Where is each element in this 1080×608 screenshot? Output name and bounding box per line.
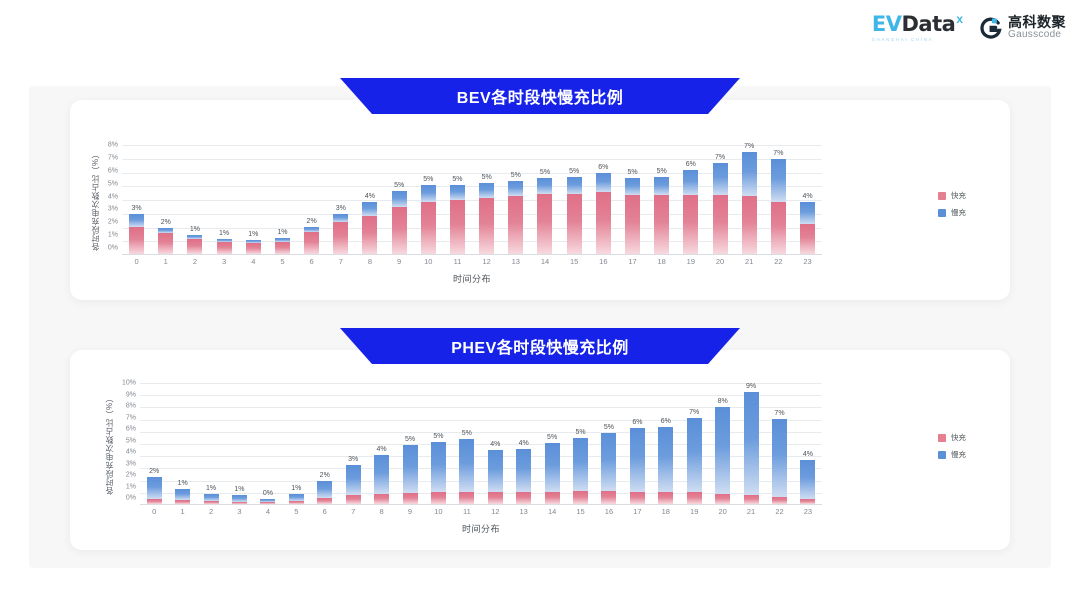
bev-bar-segment-fast	[187, 239, 202, 254]
bev-bar-segment-fast	[246, 243, 261, 254]
phev-stacked-bar[interactable]	[687, 418, 702, 504]
bev-bar-group[interactable]: 5%	[385, 145, 414, 254]
phev-bar-group[interactable]: 4%	[509, 383, 537, 504]
phev-bar-segment-fast	[630, 492, 645, 504]
bev-stacked-bar[interactable]	[392, 191, 407, 254]
bev-bar-segment-fast	[129, 227, 144, 255]
bev-stacked-bar[interactable]	[713, 163, 728, 254]
bev-bar-group[interactable]: 1%	[180, 145, 209, 254]
bev-bars: 3%2%1%1%1%1%2%3%4%5%5%5%5%5%5%5%6%5%5%6%…	[122, 145, 822, 254]
phev-x-tick: 17	[623, 507, 651, 516]
bev-stacked-bar[interactable]	[742, 152, 757, 254]
phev-bar-segment-fast	[516, 492, 531, 504]
bev-bar-group[interactable]: 3%	[122, 145, 151, 254]
phev-bar-value-label: 1%	[291, 485, 301, 492]
phev-stacked-bar[interactable]	[545, 443, 560, 504]
bev-bar-segment-fast	[362, 216, 377, 255]
phev-x-tick: 15	[566, 507, 594, 516]
phev-x-tick: 5	[282, 507, 310, 516]
phev-bar-value-label: 1%	[206, 485, 216, 492]
phev-bar-value-label: 5%	[575, 429, 585, 436]
bev-bar-segment-fast	[596, 192, 611, 254]
phev-stacked-bar[interactable]	[744, 392, 759, 504]
bev-stacked-bar[interactable]	[596, 173, 611, 254]
phev-x-tick: 7	[339, 507, 367, 516]
phev-y-tick: 4%	[126, 449, 136, 456]
bev-stacked-bar[interactable]	[421, 185, 436, 254]
phev-bar-value-label: 6%	[661, 418, 671, 425]
phev-bar-segment-slow	[147, 477, 162, 498]
phev-bar-group[interactable]: 6%	[652, 383, 680, 504]
phev-bar-segment-fast	[204, 501, 219, 504]
bev-stacked-bar[interactable]	[479, 183, 494, 255]
phev-bar-value-label: 5%	[604, 424, 614, 431]
bev-stacked-bar[interactable]	[362, 202, 377, 254]
bev-bar-group[interactable]: 7%	[764, 145, 793, 254]
bev-bar-group[interactable]: 1%	[268, 145, 297, 254]
phev-stacked-bar[interactable]	[601, 433, 616, 504]
phev-x-tick: 1	[168, 507, 196, 516]
bev-bar-group[interactable]: 1%	[210, 145, 239, 254]
bev-bar-value-label: 3%	[132, 205, 142, 212]
bev-stacked-bar[interactable]	[625, 178, 640, 254]
phev-bar-group[interactable]: 2%	[311, 383, 339, 504]
phev-bar-value-label: 5%	[547, 434, 557, 441]
phev-bar-segment-fast	[346, 495, 361, 504]
bev-bar-segment-fast	[158, 233, 173, 254]
gausscode-cn-text: 高科数聚	[1008, 15, 1066, 30]
bev-bar-group[interactable]: 7%	[705, 145, 734, 254]
phev-title-text: PHEV各时段快慢充比例	[451, 334, 629, 358]
phev-bar-value-label: 6%	[632, 419, 642, 426]
phev-bar-segment-slow	[715, 407, 730, 494]
bev-x-tick: 15	[560, 257, 589, 266]
bev-bar-segment-fast	[537, 194, 552, 255]
bev-bar-segment-slow	[392, 191, 407, 208]
bev-stacked-bar[interactable]	[654, 177, 669, 254]
phev-bar-value-label: 5%	[433, 433, 443, 440]
bev-stacked-bar[interactable]	[333, 214, 348, 254]
phev-title-banner: PHEV各时段快慢充比例	[340, 328, 740, 364]
bev-stacked-bar[interactable]	[246, 240, 261, 254]
phev-bar-group[interactable]: 1%	[168, 383, 196, 504]
phev-bar-segment-slow	[374, 455, 389, 494]
phev-bar-group[interactable]: 5%	[566, 383, 594, 504]
phev-x-tick: 20	[708, 507, 736, 516]
phev-bar-segment-fast	[459, 492, 474, 504]
phev-x-tick: 18	[652, 507, 680, 516]
bev-bar-group[interactable]: 1%	[239, 145, 268, 254]
bev-bar-value-label: 6%	[598, 164, 608, 171]
gausscode-logo: 高科数聚 Gausscode	[979, 15, 1066, 40]
bev-bar-group[interactable]: 3%	[326, 145, 355, 254]
bev-stacked-bar[interactable]	[800, 202, 815, 254]
phev-bar-segment-fast	[403, 493, 418, 504]
bev-bar-segment-fast	[625, 195, 640, 254]
phev-stacked-bar[interactable]	[204, 494, 219, 504]
bev-stacked-bar[interactable]	[217, 239, 232, 254]
phev-x-tick: 12	[481, 507, 509, 516]
bev-y-tick: 8%	[108, 142, 118, 149]
bev-stacked-bar[interactable]	[771, 159, 786, 254]
bev-bar-segment-slow	[537, 178, 552, 193]
phev-x-tick: 16	[595, 507, 623, 516]
bev-bar-group[interactable]: 5%	[530, 145, 559, 254]
phev-bar-segment-fast	[601, 491, 616, 504]
bev-x-tick: 3	[210, 257, 239, 266]
bev-bar-group[interactable]: 5%	[472, 145, 501, 254]
phev-legend-swatch-icon	[938, 434, 946, 442]
phev-bar-segment-slow	[431, 442, 446, 492]
phev-stacked-bar[interactable]	[403, 445, 418, 504]
bev-stacked-bar[interactable]	[158, 228, 173, 254]
bev-x-tick: 0	[122, 257, 151, 266]
bev-bar-value-label: 5%	[540, 169, 550, 176]
bev-x-tick: 16	[589, 257, 618, 266]
phev-bar-group[interactable]: 8%	[708, 383, 736, 504]
bev-bar-segment-slow	[479, 183, 494, 198]
bev-x-tick: 22	[764, 257, 793, 266]
phev-x-tick: 21	[737, 507, 765, 516]
phev-bar-segment-slow	[601, 433, 616, 492]
phev-x-tick: 13	[509, 507, 537, 516]
bev-bar-value-label: 5%	[482, 174, 492, 181]
bev-bar-group[interactable]: 5%	[443, 145, 472, 254]
bev-title-banner: BEV各时段快慢充比例	[340, 78, 740, 114]
phev-stacked-bar[interactable]	[317, 481, 332, 504]
bev-stacked-bar[interactable]	[275, 238, 290, 255]
phev-stacked-bar[interactable]	[800, 460, 815, 504]
phev-stacked-bar[interactable]	[260, 499, 275, 504]
phev-stacked-bar[interactable]	[459, 439, 474, 504]
phev-stacked-bar[interactable]	[573, 438, 588, 504]
bev-stacked-bar[interactable]	[537, 178, 552, 254]
phev-bar-segment-slow	[744, 392, 759, 496]
bev-bar-value-label: 1%	[277, 229, 287, 236]
phev-bar-value-label: 4%	[490, 441, 500, 448]
phev-y-tick: 5%	[126, 437, 136, 444]
bev-bar-value-label: 1%	[248, 231, 258, 238]
bev-bar-group[interactable]: 6%	[589, 145, 618, 254]
phev-bar-group[interactable]: 1%	[225, 383, 253, 504]
bev-x-tick: 11	[443, 257, 472, 266]
phev-stacked-bar[interactable]	[516, 449, 531, 504]
phev-x-axis-label: 时间分布	[140, 522, 822, 535]
bev-bar-segment-slow	[713, 163, 728, 195]
bev-stacked-bar[interactable]	[683, 170, 698, 254]
phev-bar-segment-fast	[260, 502, 275, 504]
bev-legend-label: 慢充	[951, 207, 966, 218]
phev-bar-group[interactable]: 4%	[367, 383, 395, 504]
phev-stacked-bar[interactable]	[346, 465, 361, 504]
phev-bar-value-label: 5%	[405, 436, 415, 443]
bev-x-tick: 14	[530, 257, 559, 266]
phev-bar-segment-fast	[658, 492, 673, 504]
phev-bar-segment-fast	[744, 495, 759, 504]
phev-bar-group[interactable]: 2%	[140, 383, 168, 504]
bev-y-tick: 4%	[108, 193, 118, 200]
phev-y-tick: 0%	[126, 495, 136, 502]
phev-bar-segment-slow	[630, 428, 645, 491]
phev-bar-group[interactable]: 5%	[424, 383, 452, 504]
phev-stacked-bar[interactable]	[715, 407, 730, 504]
phev-legend-label: 慢充	[951, 449, 966, 460]
phev-y-tick: 9%	[126, 391, 136, 398]
phev-bar-value-label: 9%	[746, 383, 756, 390]
bev-bar-segment-slow	[596, 173, 611, 192]
phev-stacked-bar[interactable]	[232, 495, 247, 504]
phev-bar-group[interactable]: 5%	[396, 383, 424, 504]
bev-bar-segment-fast	[421, 202, 436, 254]
phev-bar-segment-fast	[573, 491, 588, 504]
phev-x-tick: 14	[538, 507, 566, 516]
bev-legend-item[interactable]: 快充	[938, 190, 966, 201]
evdata-data-text: Data	[902, 12, 956, 36]
phev-bar-segment-slow	[175, 489, 190, 500]
bev-bar-segment-slow	[654, 177, 669, 195]
bev-x-tick: 6	[297, 257, 326, 266]
bev-x-tick: 18	[647, 257, 676, 266]
phev-bar-value-label: 4%	[803, 451, 813, 458]
phev-bar-group[interactable]: 1%	[282, 383, 310, 504]
phev-y-tick: 1%	[126, 483, 136, 490]
bev-y-ticks: 8%7%6%5%4%3%2%1%0%	[98, 145, 118, 255]
bev-y-tick: 0%	[108, 245, 118, 252]
phev-bar-value-label: 0%	[263, 490, 273, 497]
bev-bar-value-label: 5%	[627, 169, 637, 176]
phev-y-tick: 8%	[126, 403, 136, 410]
bev-bar-segment-fast	[683, 195, 698, 254]
phev-x-tick: 9	[396, 507, 424, 516]
phev-y-tick: 6%	[126, 426, 136, 433]
bev-stacked-bar[interactable]	[187, 235, 202, 254]
slide-page: EVData x shanghai china 高科数聚 Gausscode B…	[0, 0, 1080, 608]
bev-bar-segment-slow	[683, 170, 698, 195]
bev-x-tick: 17	[618, 257, 647, 266]
phev-x-tick: 4	[254, 507, 282, 516]
bev-bar-value-label: 1%	[190, 226, 200, 233]
bev-bar-segment-fast	[217, 242, 232, 254]
phev-stacked-bar[interactable]	[374, 455, 389, 504]
phev-x-ticks: 01234567891011121314151617181920212223	[140, 507, 822, 516]
phev-bar-group[interactable]: 1%	[197, 383, 225, 504]
bev-bar-segment-fast	[508, 196, 523, 254]
bev-bar-group[interactable]: 2%	[151, 145, 180, 254]
bev-legend-swatch-icon	[938, 209, 946, 217]
phev-bar-value-label: 4%	[519, 440, 529, 447]
phev-bar-segment-fast	[232, 502, 247, 504]
phev-bar-group[interactable]: 0%	[254, 383, 282, 504]
phev-stacked-bar[interactable]	[772, 419, 787, 504]
bev-bar-segment-fast	[450, 200, 465, 254]
bev-legend: 快充慢充	[938, 190, 966, 218]
phev-bar-group[interactable]: 4%	[794, 383, 822, 504]
bev-bar-value-label: 2%	[161, 219, 171, 226]
phev-y-tick: 3%	[126, 460, 136, 467]
bev-bar-segment-fast	[800, 224, 815, 254]
bev-bar-value-label: 7%	[715, 154, 725, 161]
phev-bar-segment-slow	[545, 443, 560, 492]
phev-bar-segment-fast	[289, 501, 304, 504]
phev-bar-segment-fast	[374, 494, 389, 504]
evdata-wordmark: EVData	[872, 14, 955, 35]
evdata-x-icon: x	[956, 12, 963, 26]
bev-bar-value-label: 5%	[657, 168, 667, 175]
phev-bar-value-label: 7%	[774, 410, 784, 417]
phev-x-tick: 19	[680, 507, 708, 516]
phev-legend-item[interactable]: 快充	[938, 432, 966, 443]
bev-bar-segment-slow	[567, 177, 582, 194]
bev-x-axis-label: 时间分布	[122, 272, 822, 285]
bev-bar-value-label: 4%	[365, 193, 375, 200]
bev-bar-segment-fast	[333, 222, 348, 254]
phev-bar-value-label: 3%	[348, 456, 358, 463]
bev-title-text: BEV各时段快慢充比例	[457, 84, 623, 108]
bev-x-tick: 8	[355, 257, 384, 266]
phev-bar-segment-slow	[488, 450, 503, 493]
bev-bar-segment-slow	[450, 185, 465, 200]
bev-bar-value-label: 1%	[219, 230, 229, 237]
phev-bar-group[interactable]: 6%	[623, 383, 651, 504]
phev-stacked-bar[interactable]	[488, 450, 503, 504]
bev-stacked-bar[interactable]	[304, 227, 319, 255]
bev-bar-group[interactable]: 5%	[501, 145, 530, 254]
bev-legend-item[interactable]: 慢充	[938, 207, 966, 218]
bev-x-tick: 13	[501, 257, 530, 266]
phev-bar-segment-fast	[175, 500, 190, 504]
evdata-subtitle: shanghai china	[872, 37, 933, 42]
bev-bar-segment-slow	[742, 152, 757, 196]
phev-stacked-bar[interactable]	[630, 428, 645, 504]
bev-bar-group[interactable]: 2%	[297, 145, 326, 254]
bev-bar-value-label: 5%	[394, 182, 404, 189]
bev-x-tick: 7	[326, 257, 355, 266]
bev-x-tick: 19	[676, 257, 705, 266]
bev-y-tick: 5%	[108, 180, 118, 187]
phev-x-tick: 22	[765, 507, 793, 516]
phev-x-tick: 6	[311, 507, 339, 516]
bev-stacked-bar[interactable]	[129, 214, 144, 254]
phev-x-tick: 11	[453, 507, 481, 516]
bev-bar-value-label: 5%	[511, 172, 521, 179]
bev-legend-swatch-icon	[938, 192, 946, 200]
bev-x-tick: 20	[705, 257, 734, 266]
phev-bar-segment-slow	[204, 494, 219, 501]
bev-bar-group[interactable]: 5%	[618, 145, 647, 254]
bev-bar-segment-fast	[275, 242, 290, 254]
phev-x-tick: 10	[424, 507, 452, 516]
phev-x-tick: 3	[225, 507, 253, 516]
bev-x-tick: 23	[793, 257, 822, 266]
gausscode-mark-icon	[979, 17, 1002, 40]
bev-bar-value-label: 5%	[569, 168, 579, 175]
bev-bar-segment-slow	[800, 202, 815, 224]
phev-y-tick: 10%	[122, 380, 136, 387]
bev-x-tick: 10	[414, 257, 443, 266]
bev-bar-segment-fast	[771, 202, 786, 254]
phev-bar-value-label: 5%	[462, 430, 472, 437]
phev-legend: 快充慢充	[938, 432, 966, 460]
phev-bar-group[interactable]: 5%	[595, 383, 623, 504]
phev-x-tick: 23	[794, 507, 822, 516]
bev-bar-value-label: 5%	[423, 176, 433, 183]
bev-x-tick: 2	[180, 257, 209, 266]
bev-y-tick: 3%	[108, 206, 118, 213]
phev-stacked-bar[interactable]	[289, 494, 304, 504]
phev-bar-value-label: 8%	[718, 398, 728, 405]
phev-stacked-bar[interactable]	[175, 489, 190, 504]
bev-bar-value-label: 7%	[773, 150, 783, 157]
evdata-logo: EVData x shanghai china	[872, 14, 963, 42]
bev-stacked-bar[interactable]	[508, 181, 523, 254]
phev-legend-item[interactable]: 慢充	[938, 449, 966, 460]
bev-bar-group[interactable]: 5%	[414, 145, 443, 254]
phev-y-ticks: 10%9%8%7%6%5%4%3%2%1%0%	[116, 383, 136, 505]
phev-bar-segment-fast	[147, 499, 162, 504]
bev-legend-label: 快充	[951, 190, 966, 201]
bev-x-tick: 1	[151, 257, 180, 266]
bev-bar-segment-slow	[362, 202, 377, 216]
bev-bar-group[interactable]: 6%	[676, 145, 705, 254]
phev-bar-group[interactable]: 7%	[765, 383, 793, 504]
phev-bar-group[interactable]: 7%	[680, 383, 708, 504]
header-logo-bar: EVData x shanghai china 高科数聚 Gausscode	[872, 14, 1066, 42]
phev-bar-segment-slow	[800, 460, 815, 499]
phev-plot-area: 2%1%1%1%0%1%2%3%4%5%5%5%4%4%5%5%5%6%6%7%…	[140, 383, 822, 505]
bev-bar-group[interactable]: 5%	[647, 145, 676, 254]
phev-bar-segment-slow	[459, 439, 474, 491]
phev-bar-group[interactable]: 9%	[737, 383, 765, 504]
phev-x-tick: 0	[140, 507, 168, 516]
bev-bar-group[interactable]: 5%	[560, 145, 589, 254]
bev-bar-segment-slow	[625, 178, 640, 195]
bev-bar-group[interactable]: 4%	[793, 145, 822, 254]
phev-x-tick: 2	[197, 507, 225, 516]
phev-bars: 2%1%1%1%0%1%2%3%4%5%5%5%4%4%5%5%5%6%6%7%…	[140, 383, 822, 504]
bev-x-tick: 9	[385, 257, 414, 266]
bev-stacked-bar[interactable]	[567, 177, 582, 254]
bev-bar-value-label: 5%	[452, 176, 462, 183]
phev-bar-segment-fast	[772, 497, 787, 504]
phev-y-tick: 2%	[126, 472, 136, 479]
bev-y-tick: 7%	[108, 154, 118, 161]
bev-x-ticks: 01234567891011121314151617181920212223	[122, 257, 822, 266]
bev-bar-segment-fast	[742, 196, 757, 254]
bev-bar-segment-slow	[771, 159, 786, 202]
phev-bar-group[interactable]: 3%	[339, 383, 367, 504]
bev-bar-segment-fast	[654, 195, 669, 254]
bev-x-tick: 4	[239, 257, 268, 266]
phev-bar-value-label: 1%	[234, 486, 244, 493]
bev-bar-value-label: 3%	[336, 205, 346, 212]
phev-stacked-bar[interactable]	[147, 477, 162, 504]
phev-bar-segment-fast	[715, 494, 730, 504]
phev-stacked-bar[interactable]	[431, 442, 446, 504]
bev-bar-value-label: 2%	[307, 218, 317, 225]
evdata-ev-text: EV	[872, 12, 902, 36]
phev-bar-segment-fast	[431, 492, 446, 504]
bev-bar-group[interactable]: 4%	[355, 145, 384, 254]
gausscode-en-text: Gausscode	[1008, 30, 1066, 41]
phev-bar-segment-fast	[687, 492, 702, 504]
phev-bar-segment-slow	[772, 419, 787, 497]
phev-bar-group[interactable]: 4%	[481, 383, 509, 504]
phev-bar-group[interactable]: 5%	[538, 383, 566, 504]
bev-bar-group[interactable]: 7%	[735, 145, 764, 254]
phev-stacked-bar[interactable]	[658, 427, 673, 504]
phev-bar-group[interactable]: 5%	[453, 383, 481, 504]
bev-stacked-bar[interactable]	[450, 185, 465, 254]
